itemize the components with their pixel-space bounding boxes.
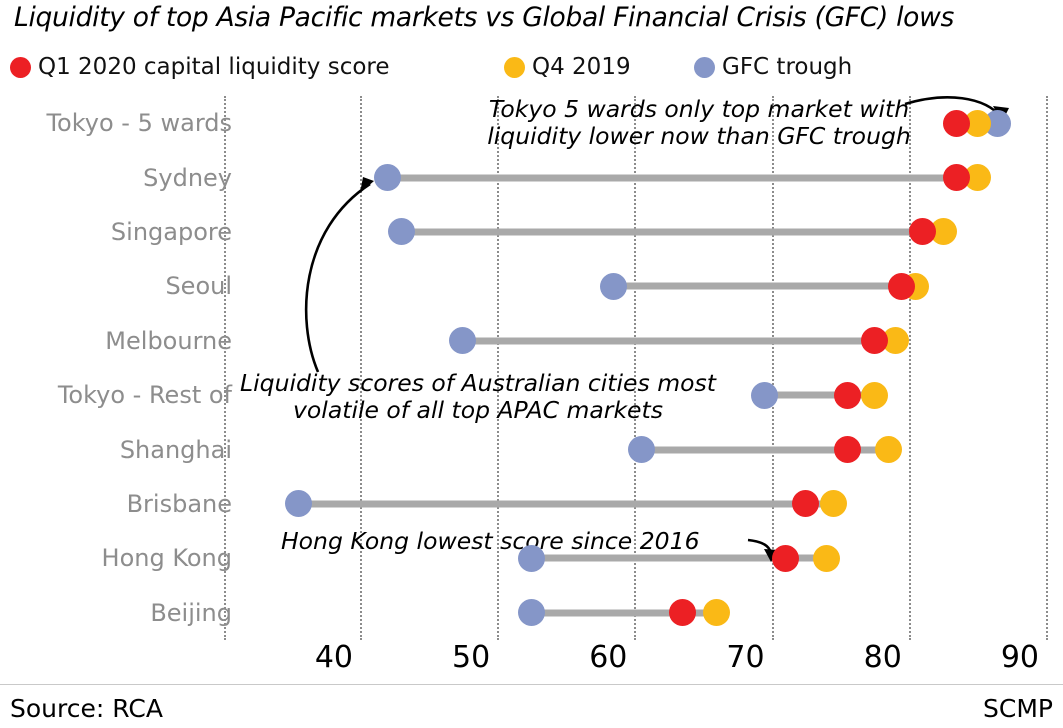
data-point-gfc-trough[interactable] bbox=[388, 218, 415, 245]
data-point-gfc-trough[interactable] bbox=[374, 164, 401, 191]
x-tick-label-90: 90 bbox=[1001, 640, 1046, 675]
connector-line bbox=[401, 228, 943, 235]
x-tick-label-80: 80 bbox=[864, 640, 909, 675]
legend-label-q4-2019: Q4 2019 bbox=[532, 54, 631, 80]
data-point-gfc-trough[interactable] bbox=[285, 490, 312, 517]
data-point-q1-2020[interactable] bbox=[792, 490, 819, 517]
annotation-australian-cities: Liquidity scores of Australian cities mo… bbox=[233, 370, 723, 424]
chart-root: Liquidity of top Asia Pacific markets vs… bbox=[0, 0, 1063, 728]
chart-row: Seoul bbox=[0, 259, 1063, 313]
data-point-q1-2020[interactable] bbox=[772, 545, 799, 572]
legend-swatch-red bbox=[10, 57, 31, 78]
data-point-q1-2020[interactable] bbox=[909, 218, 936, 245]
data-point-gfc-trough[interactable] bbox=[751, 382, 778, 409]
data-point-q1-2020[interactable] bbox=[834, 436, 861, 463]
annotation-tokyo-5-wards: Tokyo 5 wards only top market with liqui… bbox=[459, 96, 939, 150]
category-label-shanghai: Shanghai bbox=[120, 436, 232, 464]
legend-label-gfc-trough: GFC trough bbox=[722, 54, 852, 80]
data-point-q1-2020[interactable] bbox=[834, 382, 861, 409]
data-point-gfc-trough[interactable] bbox=[628, 436, 655, 463]
page-title: Liquidity of top Asia Pacific markets vs… bbox=[14, 2, 1059, 33]
category-label-melbourne: Melbourne bbox=[105, 327, 232, 355]
category-label-hong-kong: Hong Kong bbox=[102, 544, 232, 572]
chart-row: Singapore bbox=[0, 205, 1063, 259]
credit-label: SCMP bbox=[983, 694, 1053, 723]
x-tick-label-70: 70 bbox=[726, 640, 771, 675]
data-point-q4-2019[interactable] bbox=[703, 599, 730, 626]
data-point-q4-2019[interactable] bbox=[820, 490, 847, 517]
data-point-q1-2020[interactable] bbox=[943, 164, 970, 191]
connector-line bbox=[614, 283, 916, 290]
x-tick-label-60: 60 bbox=[589, 640, 634, 675]
category-label-seoul: Seoul bbox=[165, 272, 232, 300]
data-point-q1-2020[interactable] bbox=[943, 110, 970, 137]
category-label-sydney: Sydney bbox=[143, 164, 232, 192]
connector-line bbox=[298, 500, 833, 507]
legend-swatch-yellow bbox=[504, 57, 525, 78]
data-point-q4-2019[interactable] bbox=[813, 545, 840, 572]
plot-area: Tokyo - 5 wardsSydneySingaporeSeoulMelbo… bbox=[0, 96, 1063, 640]
data-point-q1-2020[interactable] bbox=[861, 327, 888, 354]
legend-swatch-blue bbox=[694, 57, 715, 78]
category-label-tokyo-5-wards: Tokyo - 5 wards bbox=[46, 109, 232, 137]
connector-line bbox=[463, 337, 895, 344]
footer-divider bbox=[0, 684, 1063, 685]
data-point-gfc-trough[interactable] bbox=[449, 327, 476, 354]
data-point-gfc-trough[interactable] bbox=[600, 273, 627, 300]
legend-item-gfc-trough: GFC trough bbox=[694, 54, 852, 80]
data-point-gfc-trough[interactable] bbox=[518, 599, 545, 626]
legend-item-q4-2019: Q4 2019 bbox=[504, 54, 631, 80]
source-label: Source: RCA bbox=[10, 694, 163, 723]
category-label-beijing: Beijing bbox=[150, 599, 232, 627]
category-label-singapore: Singapore bbox=[111, 218, 232, 246]
data-point-gfc-trough[interactable] bbox=[518, 545, 545, 572]
data-point-q4-2019[interactable] bbox=[861, 382, 888, 409]
data-point-q1-2020[interactable] bbox=[669, 599, 696, 626]
category-label-brisbane: Brisbane bbox=[127, 490, 232, 518]
chart-row: Melbourne bbox=[0, 314, 1063, 368]
legend-label-q1-2020: Q1 2020 capital liquidity score bbox=[38, 54, 390, 80]
x-axis: 405060708090 bbox=[0, 640, 1063, 684]
chart-row: Brisbane bbox=[0, 477, 1063, 531]
legend-item-q1-2020: Q1 2020 capital liquidity score bbox=[10, 54, 390, 80]
chart-row: Beijing bbox=[0, 586, 1063, 640]
connector-line bbox=[387, 174, 977, 181]
category-label-tokyo-rest-of: Tokyo - Rest of bbox=[58, 381, 232, 409]
x-tick-label-50: 50 bbox=[452, 640, 497, 675]
x-tick-label-40: 40 bbox=[315, 640, 360, 675]
data-point-q4-2019[interactable] bbox=[875, 436, 902, 463]
chart-row: Sydney bbox=[0, 150, 1063, 204]
chart-row: Shanghai bbox=[0, 422, 1063, 476]
